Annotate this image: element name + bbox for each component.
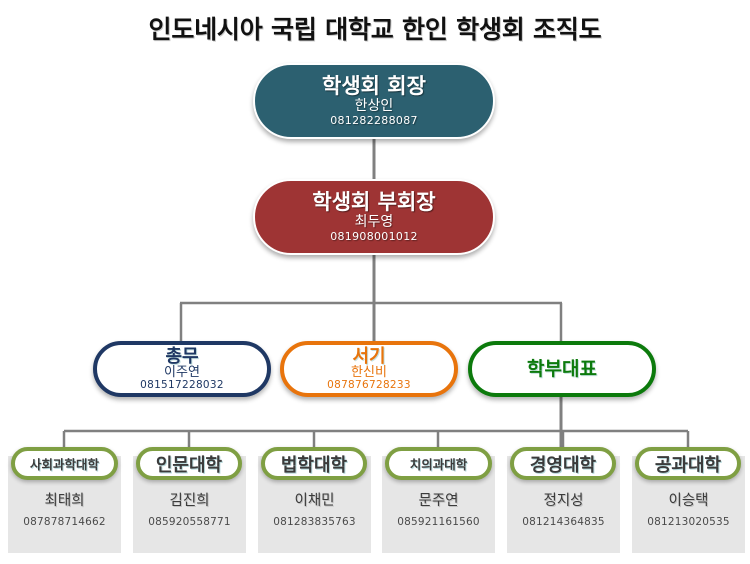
dept-rep-phone-0: 087878714662 — [23, 516, 106, 528]
general-affairs-phone: 081517228032 — [140, 380, 224, 391]
dept-pill-2[interactable]: 법학대학 — [261, 447, 367, 480]
node-department-representative[interactable]: 학부대표 — [468, 341, 656, 397]
dept-label-5: 공과대학 — [655, 451, 721, 477]
dept-pill-0[interactable]: 사회과학대학 — [11, 447, 118, 480]
secretary-title: 서기 — [352, 347, 385, 366]
secretary-phone: 087876728233 — [327, 380, 411, 391]
dept-rep-phone-2: 081283835763 — [273, 516, 356, 528]
node-vice-president[interactable]: 학생회 부회장 최두영 081908001012 — [253, 179, 495, 255]
department-representative-title: 학부대표 — [527, 359, 597, 380]
dept-rep-name-4: 정지성 — [543, 489, 583, 510]
dept-rep-phone-3: 085921161560 — [397, 516, 480, 528]
node-general-affairs[interactable]: 총무 이주연 081517228032 — [93, 341, 271, 397]
president-title: 학생회 회장 — [322, 75, 426, 98]
dept-rep-phone-5: 081213020535 — [647, 516, 730, 528]
general-affairs-title: 총무 — [165, 347, 198, 366]
dept-pill-5[interactable]: 공과대학 — [635, 447, 741, 480]
dept-rep-name-2: 이채민 — [294, 489, 334, 510]
node-president[interactable]: 학생회 회장 한상인 081282288087 — [253, 63, 495, 139]
dept-rep-phone-1: 085920558771 — [148, 516, 231, 528]
president-phone: 081282288087 — [330, 115, 418, 127]
dept-rep-name-5: 이승택 — [668, 489, 708, 510]
org-chart-canvas: 인도네시아 국립 대학교 한인 학생회 조직도 학생회 회장 한상인 08128… — [0, 0, 750, 564]
dept-label-3: 치의과대학 — [410, 454, 468, 473]
dept-pill-3[interactable]: 치의과대학 — [385, 447, 492, 480]
dept-rep-name-1: 김진희 — [169, 489, 209, 510]
dept-label-1: 인문대학 — [156, 451, 222, 477]
secretary-name: 한신비 — [351, 366, 387, 380]
dept-label-4: 경영대학 — [530, 451, 596, 477]
dept-pill-1[interactable]: 인문대학 — [136, 447, 242, 480]
dept-pill-4[interactable]: 경영대학 — [510, 447, 616, 480]
page-title: 인도네시아 국립 대학교 한인 학생회 조직도 — [0, 10, 750, 46]
vice-president-name: 최두영 — [355, 215, 394, 230]
general-affairs-name: 이주연 — [164, 366, 200, 380]
dept-label-2: 법학대학 — [281, 451, 347, 477]
node-secretary[interactable]: 서기 한신비 087876728233 — [280, 341, 458, 397]
dept-rep-name-3: 문주연 — [418, 489, 458, 510]
dept-label-0: 사회과학대학 — [30, 454, 99, 473]
dept-rep-name-0: 최태희 — [44, 489, 84, 510]
dept-rep-phone-4: 081214364835 — [522, 516, 605, 528]
vice-president-phone: 081908001012 — [330, 231, 418, 243]
vice-president-title: 학생회 부회장 — [312, 191, 435, 214]
president-name: 한상인 — [355, 99, 394, 114]
